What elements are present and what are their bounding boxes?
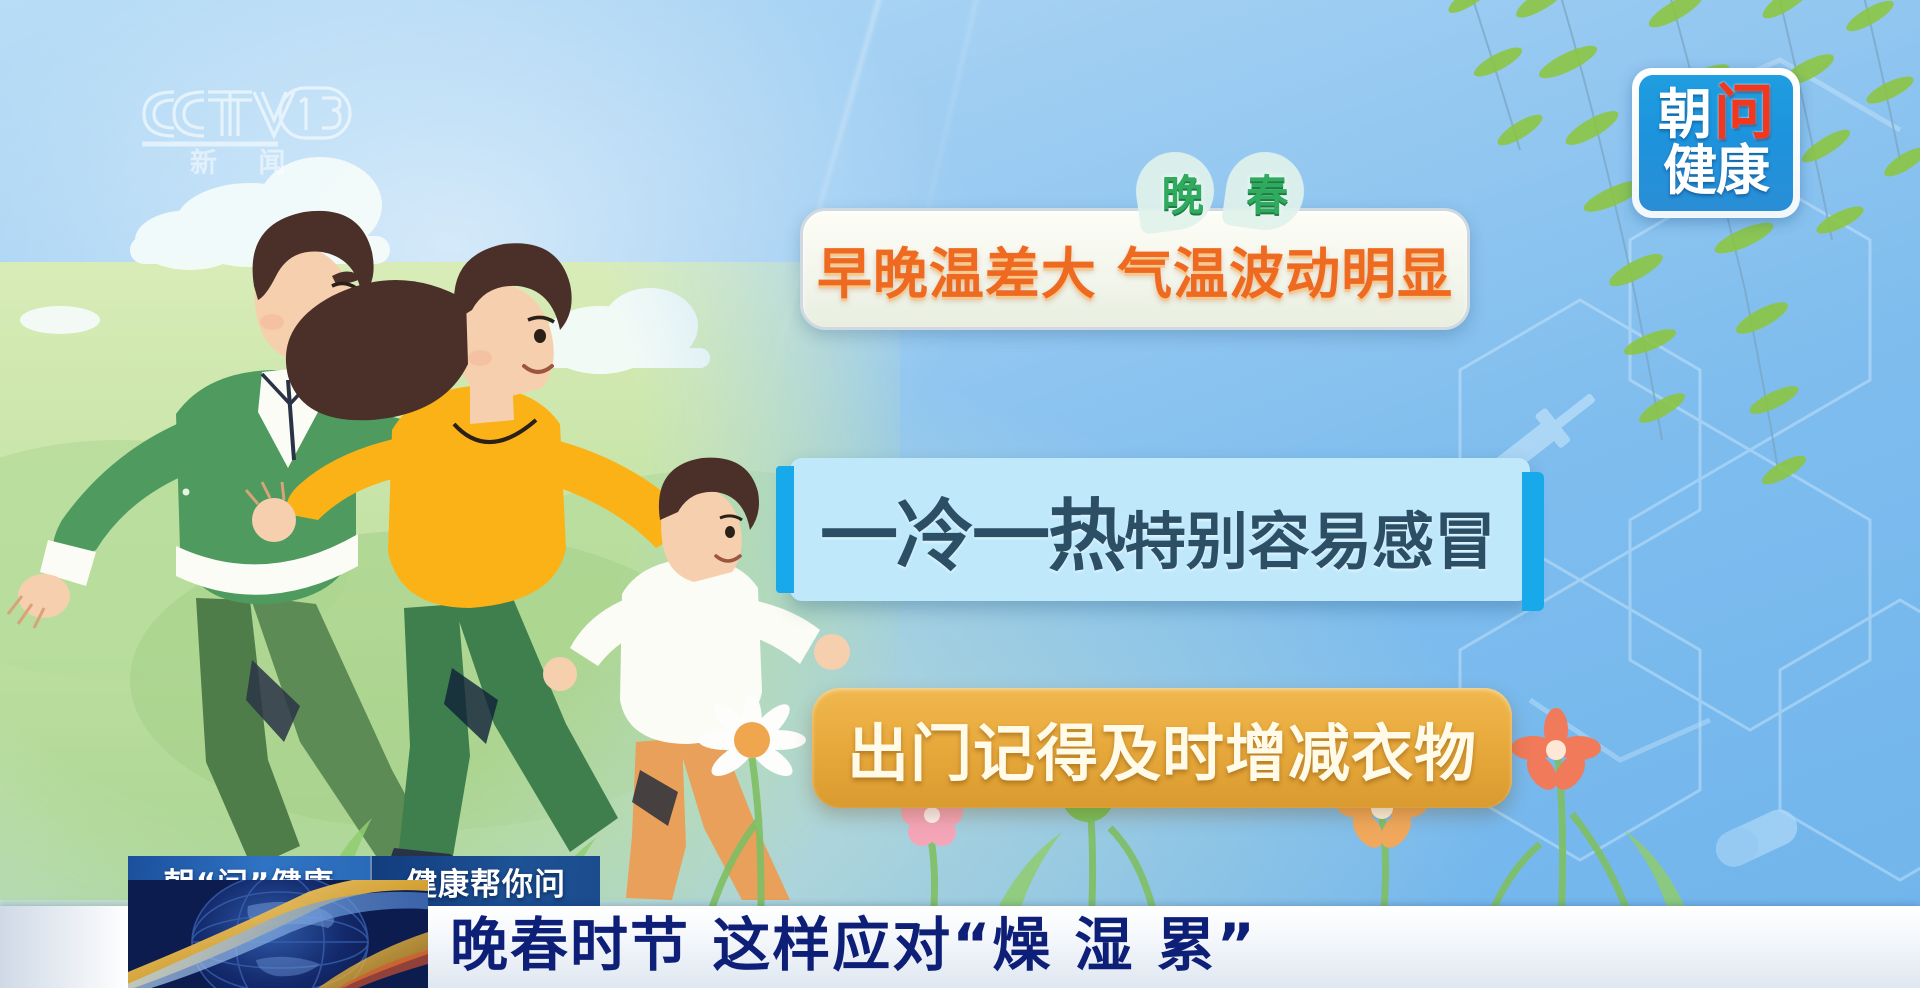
info-banner-cold-hot-emphasis: 一冷一热 bbox=[820, 492, 1124, 582]
info-banner-cold-hot: 一冷一热特别容易感冒 bbox=[790, 458, 1530, 601]
program-logo-row-1: 朝 问 bbox=[1645, 88, 1787, 143]
program-logo-inner: 朝 问 健康 bbox=[1639, 75, 1793, 211]
info-banner-clothing: 出门记得及时增减衣物 bbox=[812, 688, 1512, 808]
info-banner-clothing-text: 出门记得及时增减衣物 bbox=[847, 703, 1477, 793]
program-logo-char-chao: 朝 bbox=[1658, 89, 1712, 142]
program-logo-row-2: 健康 bbox=[1663, 144, 1769, 198]
info-banner-cold-hot-text: 特别容易感冒 bbox=[1124, 505, 1496, 578]
lower-third: 朝“问”健康 健康帮你问 bbox=[0, 868, 1920, 988]
season-badge: 晚 春 bbox=[1122, 150, 1328, 234]
info-banner-temperature-text: 早晚温差大 气温波动明显 bbox=[817, 229, 1453, 309]
news-globe-graphic bbox=[128, 880, 428, 988]
program-logo-char-wen: 问 bbox=[1714, 84, 1774, 143]
broadcast-frame: 新 闻 朝 问 健康 晚 春 早晚温差大 气温波动明显 一冷一热特别容易感冒 出… bbox=[0, 0, 1920, 988]
program-logo: 朝 问 健康 bbox=[1632, 68, 1800, 218]
info-banner-cold-hot-wrapper: 一冷一热特别容易感冒 bbox=[820, 474, 1496, 586]
headline-text: 晚春时节 这样应对“燥 湿 累” bbox=[450, 898, 1257, 982]
season-badge-label: 晚 春 bbox=[1148, 162, 1303, 223]
headline-bar-left-shade bbox=[0, 906, 130, 988]
